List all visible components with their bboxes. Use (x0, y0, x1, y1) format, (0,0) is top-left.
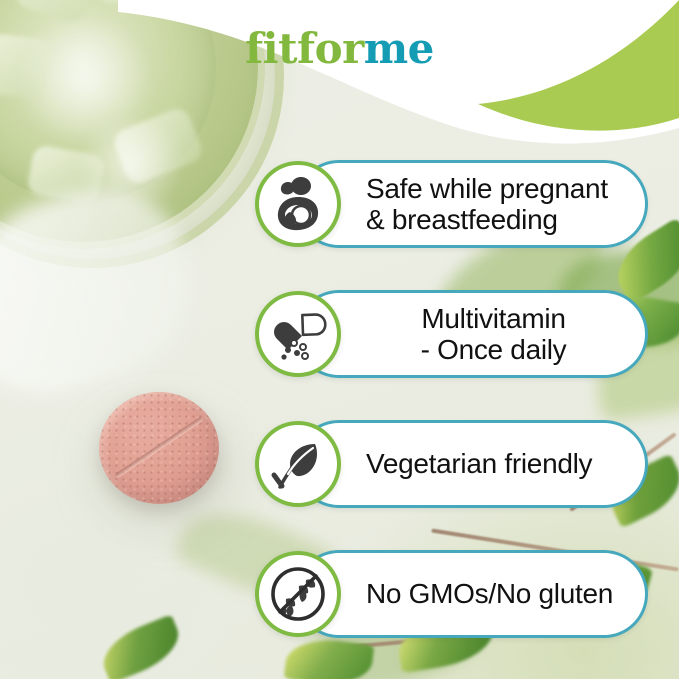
badge-text-block: Safe while pregnant & breastfeeding (298, 173, 645, 236)
badge-line-1: No GMOs/No gluten (366, 578, 629, 609)
header-band: fitforme (0, 0, 679, 160)
badge-line-2: & breastfeeding (366, 204, 629, 235)
effervescent-tablet (99, 392, 219, 504)
badge-line-1: Multivitamin (358, 303, 629, 334)
breastfeeding-mother-icon (255, 161, 341, 247)
no-gmo-wheat-icon (255, 551, 341, 637)
badge-text-block: Vegetarian friendly (298, 448, 645, 479)
feature-badge-vegetarian[interactable]: Vegetarian friendly (255, 420, 648, 508)
feature-badge-multivitamin[interactable]: Multivitamin - Once daily (255, 290, 648, 378)
badge-line-1: Safe while pregnant (366, 173, 629, 204)
badge-pill-background: No GMOs/No gluten (295, 550, 648, 638)
badge-line-1: Vegetarian friendly (366, 448, 629, 479)
logo-text-me: me (364, 24, 434, 73)
badge-text-block: Multivitamin - Once daily (298, 303, 645, 366)
leaf-checkmark-icon (255, 421, 341, 507)
badge-pill-background: Safe while pregnant & breastfeeding (295, 160, 648, 248)
brand-logo: fitforme (0, 28, 679, 70)
open-capsule-granules-icon (255, 291, 341, 377)
badge-line-2: - Once daily (358, 334, 629, 365)
badge-pill-background: Vegetarian friendly (295, 420, 648, 508)
badge-pill-background: Multivitamin - Once daily (295, 290, 648, 378)
logo-text-fitfor: fitfor (245, 24, 364, 73)
feature-badge-no-gmo[interactable]: No GMOs/No gluten (255, 550, 648, 638)
product-feature-graphic: fitforme Safe while pregnant & breastfee… (0, 0, 679, 679)
feature-badge-pregnancy[interactable]: Safe while pregnant & breastfeeding (255, 160, 648, 248)
badge-text-block: No GMOs/No gluten (298, 578, 645, 609)
